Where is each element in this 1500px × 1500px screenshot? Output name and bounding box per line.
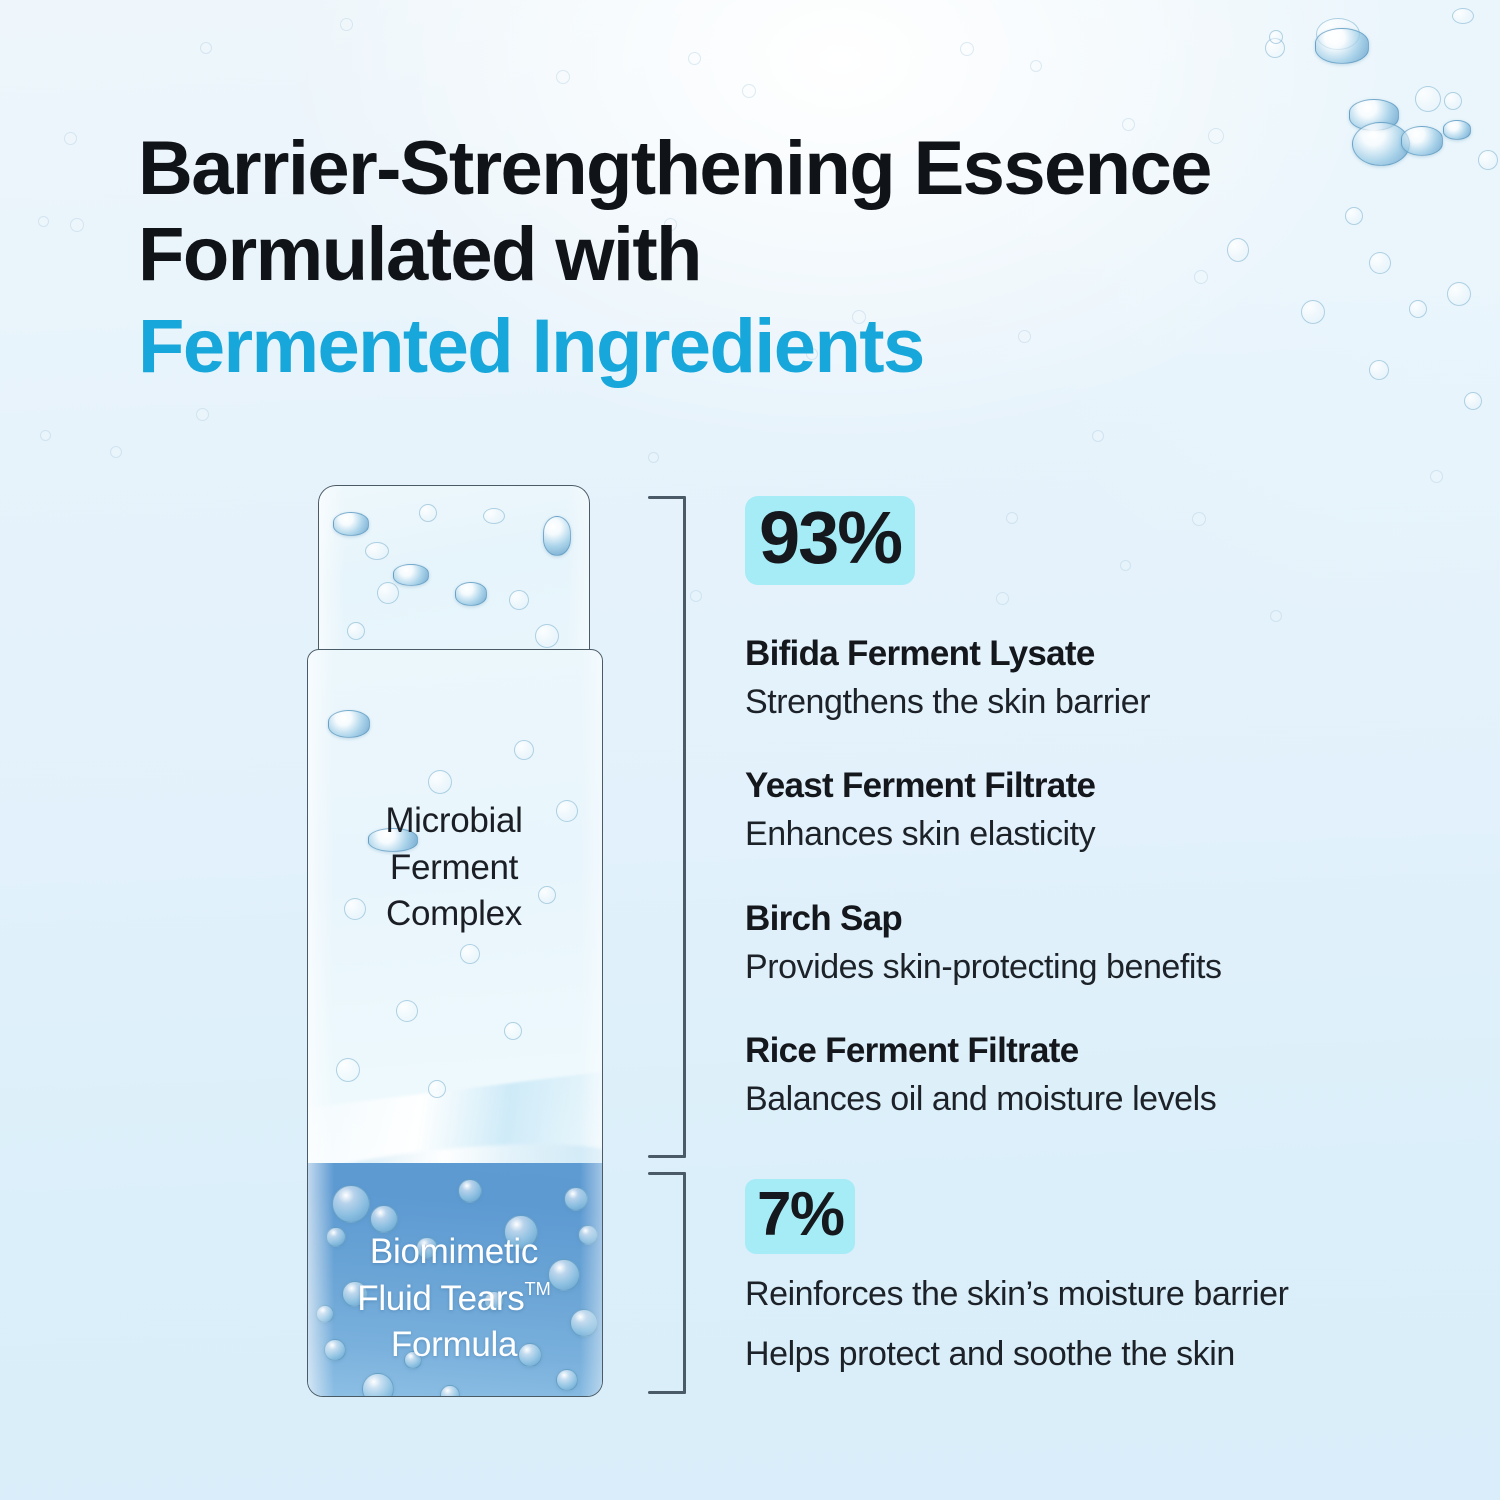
bracket-arm-bottom [648,1155,686,1158]
bubble-icon [200,42,212,54]
bubble-icon [365,542,389,560]
bubble-icon [1478,150,1498,170]
headline-line-2: Formulated with [138,212,701,297]
bubble-icon [1444,92,1462,110]
benefit-line: Reinforces the skin’s moisture barrier [745,1274,1405,1315]
bottle-gloss-right [567,486,589,658]
bubble-icon [960,42,974,56]
ingredient-name: Rice Ferment Filtrate [745,1030,1405,1072]
bubble-icon [1452,8,1474,24]
ingredient-item: Birch Sap Provides skin-protecting benef… [745,898,1405,988]
bubble-icon [328,710,370,738]
ingredient-description: Strengthens the skin barrier [745,682,1405,723]
ingredient-description: Balances oil and moisture levels [745,1079,1405,1120]
bubble-icon [64,132,77,145]
bottle-lower-label: Biomimetic Fluid TearsTM Formula [307,1229,601,1369]
benefit-line: Helps protect and soothe the skin [745,1334,1405,1375]
bubble-icon [347,622,365,640]
bottle-upper-label-line: Ferment [307,845,601,892]
bubble-icon [1443,120,1471,140]
headline-line-1: Barrier-Strengthening Essence [138,126,1211,211]
bubble-icon [690,590,702,602]
bubble-icon [196,408,209,421]
bubble-icon [110,446,122,458]
bottle-lower-label-line-trademark: Fluid TearsTM [307,1276,601,1323]
infographic-canvas: Barrier-Strengthening Essence Formulated… [0,0,1500,1500]
bracket-upper-section [648,496,686,1158]
bubble-icon [1464,392,1482,410]
bubble-icon [377,582,399,604]
bracket-stem [683,1172,686,1394]
bottle-upper-label: Microbial Ferment Complex [307,798,601,938]
ingredient-item: Rice Ferment Filtrate Balances oil and m… [745,1030,1405,1120]
ingredient-description: Enhances skin elasticity [745,814,1405,855]
bottle-lower-label-line: Formula [307,1322,601,1369]
bubble-icon [332,1185,370,1223]
bubble-icon [688,52,701,65]
bubble-icon [70,218,84,232]
headline-accent-line: Fermented Ingredients [138,304,1438,390]
bubble-icon [419,504,437,522]
bubble-icon [362,1373,394,1397]
bubble-icon [428,770,452,794]
bubble-icon [648,452,659,463]
bubble-icon [1092,430,1104,442]
page-title: Barrier-Strengthening Essence Formulated… [138,126,1438,390]
bubble-icon [1415,86,1441,112]
ingredient-item: Yeast Ferment Filtrate Enhances skin ela… [745,765,1405,855]
bracket-lower-section [648,1172,686,1394]
trademark-symbol: TM [524,1279,550,1299]
ingredient-name: Birch Sap [745,898,1405,940]
bubble-icon [742,84,756,98]
bubble-icon [504,1022,522,1040]
bubble-icon [556,70,570,84]
bubble-icon [38,216,49,227]
bubble-icon [440,1385,460,1397]
bubble-icon [455,582,487,606]
bubble-icon [340,18,353,31]
bottle-neck [318,485,590,658]
bubble-icon [1315,28,1369,64]
bottle-lower-label-line: Biomimetic [307,1229,601,1276]
bubble-icon [535,624,559,648]
ingredient-name: Bifida Ferment Lysate [745,633,1405,675]
ingredient-description: Provides skin-protecting benefits [745,947,1405,988]
ingredient-name: Yeast Ferment Filtrate [745,765,1405,807]
percentage-badge-93: 93% [745,496,915,585]
bubble-icon [1030,60,1042,72]
bubble-icon [40,430,51,441]
bracket-arm-bottom [648,1391,686,1394]
product-bottle-illustration: Microbial Ferment Complex Biomimetic Flu… [307,485,601,1395]
section-7: 7% Reinforces the skin’s moisture barrie… [745,1179,1405,1375]
bracket-arm-top [648,1172,686,1175]
bubble-icon [509,590,529,610]
bubble-icon [1316,18,1360,50]
ingredients-column: 93% Bifida Ferment Lysate Strengthens th… [745,496,1405,1375]
bottle-gloss-left [319,486,345,658]
bottle-upper-label-line: Complex [307,891,601,938]
bubble-icon [460,944,480,964]
bubble-icon [556,1369,578,1391]
percentage-badge-7: 7% [745,1179,855,1254]
bubble-icon [1430,470,1443,483]
bubble-icon [458,1179,482,1203]
section-93: 93% Bifida Ferment Lysate Strengthens th… [745,496,1405,1121]
bracket-stem [683,496,686,1158]
bubble-icon [336,1058,360,1082]
ingredient-item: Bifida Ferment Lysate Strengthens the sk… [745,633,1405,723]
bottle-upper-label-line: Microbial [307,798,601,845]
bubble-icon [483,508,505,524]
bubble-icon [393,564,429,586]
bubble-icon [396,1000,418,1022]
bubble-icon [514,740,534,760]
bubble-icon [1447,282,1471,306]
bubble-icon [1269,30,1283,44]
bracket-arm-top [648,496,686,499]
bubble-icon [1265,38,1285,58]
